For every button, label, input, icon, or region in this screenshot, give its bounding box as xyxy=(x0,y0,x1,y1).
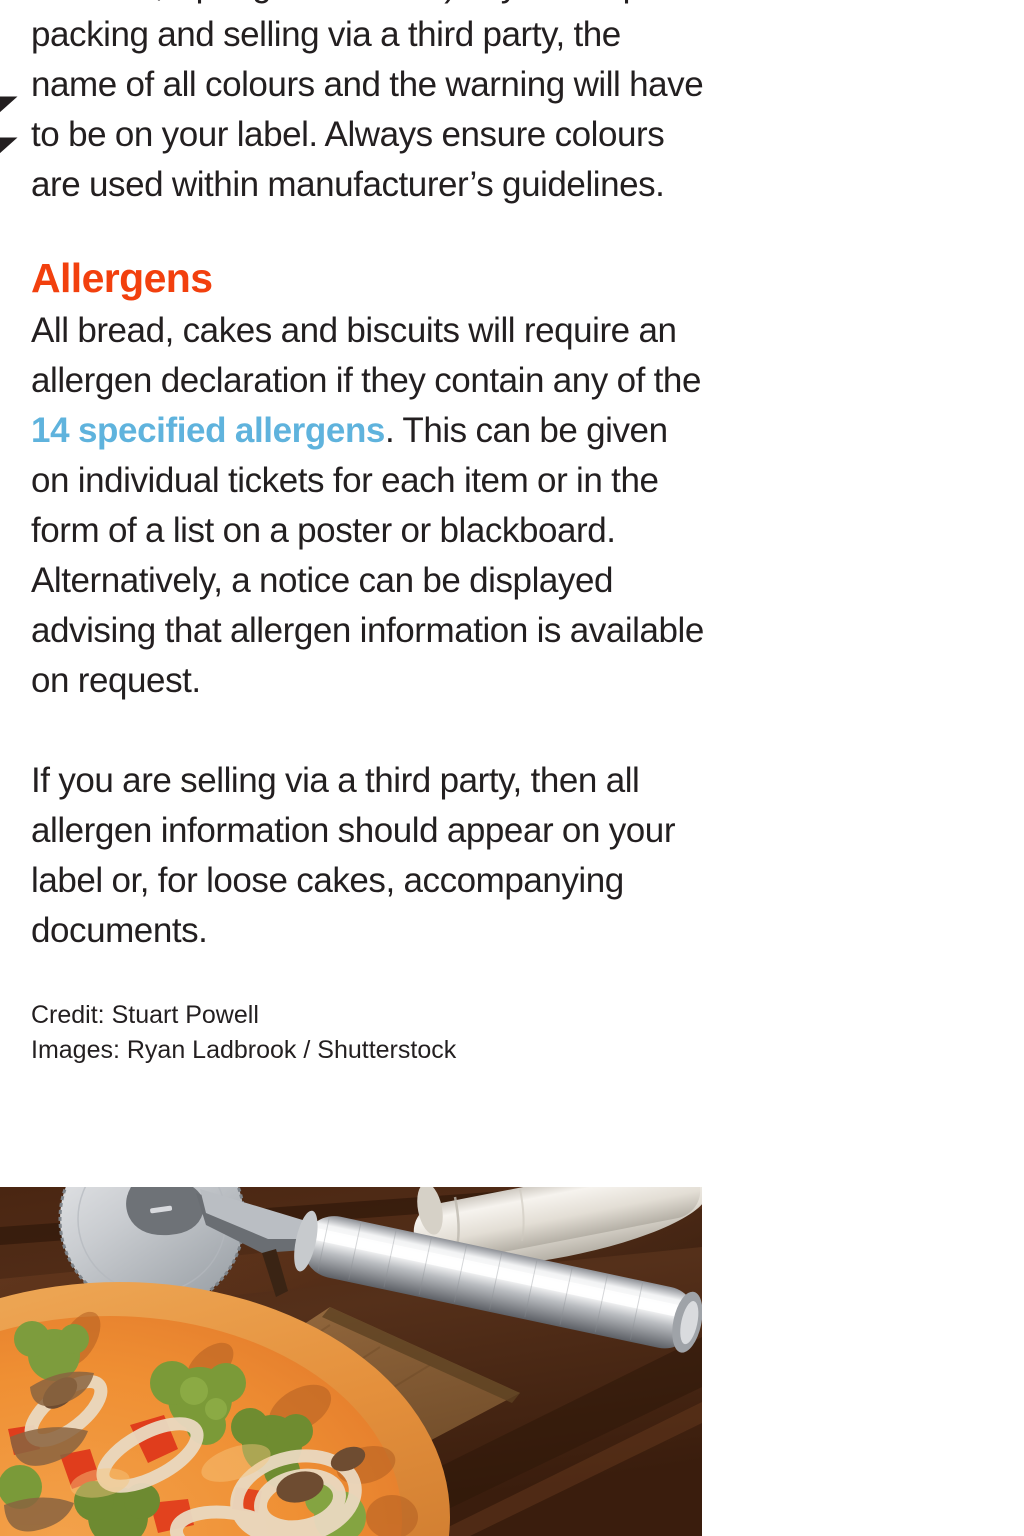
allergens-paragraph-1-part-1: All bread, cakes and biscuits will requi… xyxy=(31,311,701,400)
chevron-down-icon xyxy=(0,138,18,155)
chevron-down-icon xyxy=(0,97,18,114)
inline-link-colours[interactable]: colours xyxy=(31,0,155,4)
inline-link-14-specified-allergens[interactable]: 14 specified allergens xyxy=(31,411,385,450)
allergens-paragraph-1: All bread, cakes and biscuits will requi… xyxy=(31,306,706,706)
credit-line: Credit: Stuart Powell xyxy=(31,998,706,1033)
allergens-paragraph-1-part-2: . This can be given on individual ticket… xyxy=(31,411,704,700)
left-edge-markers xyxy=(0,86,22,168)
images-credit-line: Images: Ryan Ladbrook / Shutterstock xyxy=(31,1033,706,1068)
allergens-paragraph-2: If you are selling via a third party, th… xyxy=(31,756,706,956)
intro-paragraph-text: , Spring 2015 issue). If you are pre-pac… xyxy=(31,0,703,204)
paragraph-spacer xyxy=(31,706,706,756)
credits-block: Credit: Stuart Powell Images: Ryan Ladbr… xyxy=(31,998,706,1068)
article-page: colours, Spring 2015 issue). If you are … xyxy=(0,0,1024,1536)
article-text-column: colours, Spring 2015 issue). If you are … xyxy=(31,0,706,1068)
section-heading-allergens: Allergens xyxy=(31,210,706,306)
intro-paragraph: colours, Spring 2015 issue). If you are … xyxy=(31,0,706,210)
pizza-photo xyxy=(0,1187,702,1536)
